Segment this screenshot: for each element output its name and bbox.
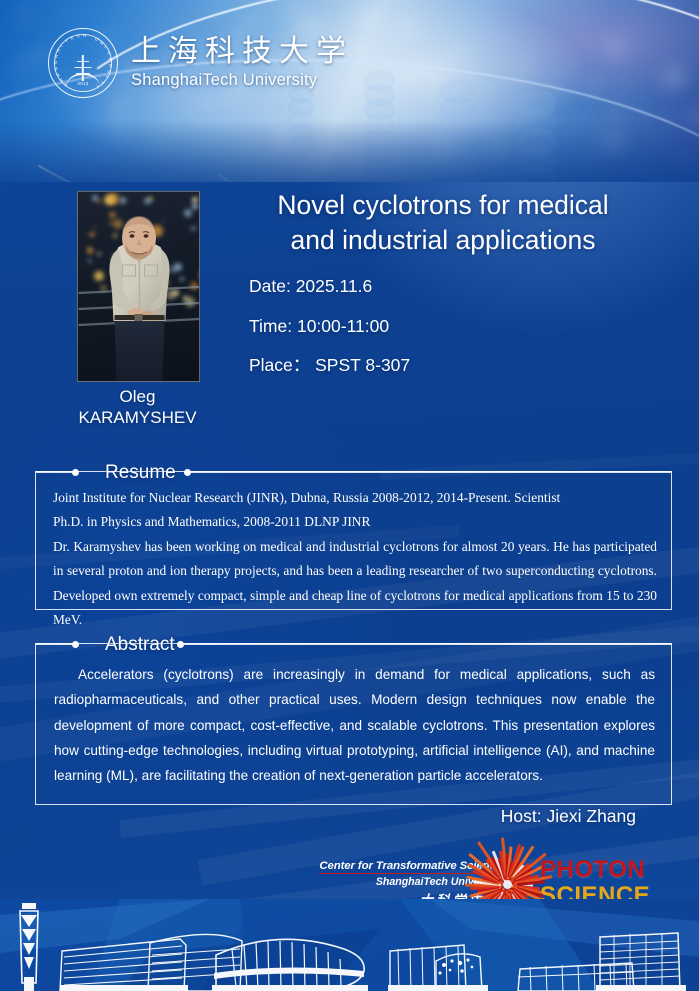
abstract-heading: Abstract — [79, 635, 177, 654]
abstract-section-header: Abstract — [36, 633, 671, 655]
speaker-last-name: KARAMYSHEV — [56, 407, 219, 428]
campus-skyline-icon — [0, 899, 699, 991]
resume-heading: Resume — [79, 463, 184, 482]
talk-date: Date: 2025.11.6 — [249, 278, 410, 296]
seminar-poster: SHANGHAITECH UNIVERSITY 2013 上海科技大学 Shan… — [0, 0, 699, 991]
resume-content: Joint Institute for Nuclear Research (JI… — [53, 486, 657, 632]
resume-right-dot-icon — [184, 469, 191, 476]
photon-word: PHOTON — [540, 858, 650, 882]
resume-line-2: Ph.D. in Physics and Mathematics, 2008-2… — [53, 510, 657, 534]
abstract-paragraph: Accelerators (cyclotrons) are increasing… — [54, 662, 655, 788]
abstract-left-dot-icon — [72, 641, 79, 648]
university-name-en: ShanghaiTech University — [131, 71, 353, 89]
resume-section-header: Resume — [36, 461, 671, 483]
resume-left-dot-icon — [72, 469, 79, 476]
speaker-photo — [77, 191, 200, 382]
resume-line-1: Joint Institute for Nuclear Research (JI… — [53, 486, 657, 510]
shanghaitech-seal-icon: SHANGHAITECH UNIVERSITY 2013 — [48, 28, 118, 98]
host-label: Host: Jiexi Zhang — [501, 806, 636, 827]
speaker-name: Oleg KARAMYSHEV — [56, 386, 219, 429]
abstract-right-dot-icon — [177, 641, 184, 648]
university-name-cn: 上海科技大学 — [131, 37, 353, 67]
talk-title: Novel cyclotrons for medical and industr… — [233, 188, 653, 258]
speaker-first-name: Oleg — [56, 386, 219, 407]
resume-paragraph: Dr. Karamyshev has been working on medic… — [53, 535, 657, 633]
abstract-section: Abstract Accelerators (cyclotrons) are i… — [35, 643, 672, 805]
talk-place: Place： SPST 8-307 — [249, 357, 410, 375]
talk-title-line1: Novel cyclotrons for medical — [233, 188, 653, 223]
abstract-content: Accelerators (cyclotrons) are increasing… — [54, 662, 655, 788]
talk-details: Date: 2025.11.6 Time: 10:00-11:00 Place：… — [249, 278, 410, 397]
seal-year: 2013 — [78, 81, 89, 86]
talk-title-line2: and industrial applications — [233, 223, 653, 258]
resume-section: Resume Joint Institute for Nuclear Resea… — [35, 471, 672, 610]
talk-time: Time: 10:00-11:00 — [249, 318, 410, 336]
university-logo: SHANGHAITECH UNIVERSITY 2013 上海科技大学 Shan… — [48, 28, 353, 98]
